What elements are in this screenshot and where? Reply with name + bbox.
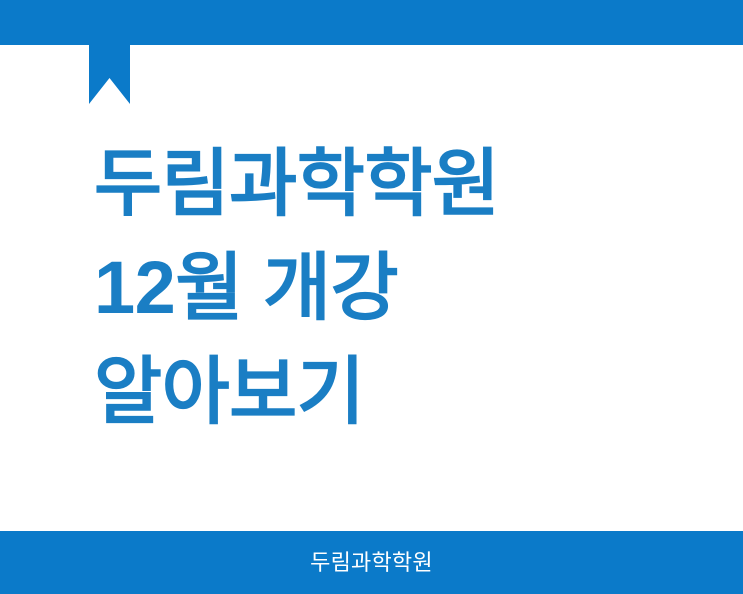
headline-line-3: 알아보기 <box>94 340 654 444</box>
footer-blue-band: 두림과학학원 <box>0 531 743 594</box>
bookmark-ribbon-icon <box>89 45 130 104</box>
headline-block: 두림과학학원 12월 개강 알아보기 <box>94 132 654 444</box>
headline-line-2: 12월 개강 <box>94 236 654 340</box>
top-blue-band <box>0 0 743 45</box>
poster-canvas: 두림과학학원 12월 개강 알아보기 두림과학학원 <box>0 0 743 594</box>
footer-brand-label: 두림과학학원 <box>310 552 433 574</box>
headline-line-1: 두림과학학원 <box>94 132 654 236</box>
